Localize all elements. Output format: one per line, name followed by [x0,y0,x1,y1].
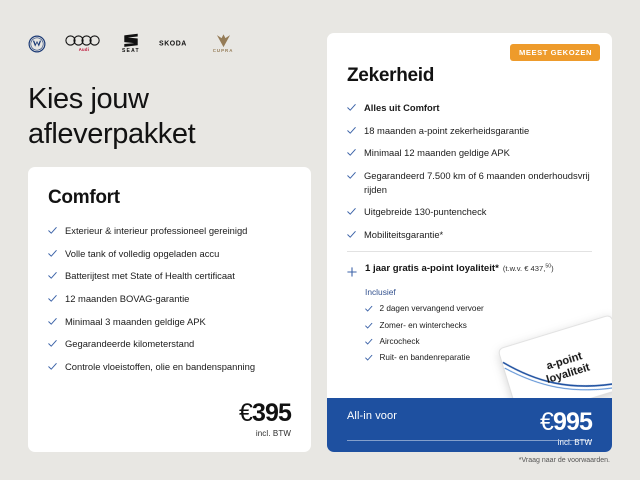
list-item: 2 dagen vervangend vervoer [365,303,592,315]
comfort-price-block: €395 incl. BTW [239,401,291,438]
list-item: Controle vloeistoffen, olie en bandenspa… [48,360,291,374]
currency-symbol: € [540,408,553,436]
cupra-wordmark: CUPRA [213,49,234,53]
page-title-line1: Kies jouw [28,83,149,115]
loyalty-value-prefix: (t.w.v. € 437, [503,264,546,273]
check-icon [48,339,57,348]
list-item-label: Minimaal 3 maanden geldige APK [65,315,291,329]
loyalty-value-suffix: ) [551,264,554,273]
list-item: 12 maanden BOVAG-garantie [48,292,291,306]
vw-icon [28,35,46,53]
seat-logo: SEAT [122,33,140,54]
allin-price: €995 [540,410,592,435]
comfort-price: €395 [239,401,291,426]
list-item: Gegarandeerde kilometerstand [48,337,291,351]
loyalty-title: 1 jaar gratis a-point loyaliteit* [365,263,499,274]
check-icon [347,148,356,157]
status-badge: MEEST GEKOZEN [510,44,600,61]
list-item-label: 2 dagen vervangend vervoer [380,303,484,315]
page-title: Kies jouw afleverpakket [28,82,195,153]
comfort-feature-list: Exterieur & interieur professioneel gere… [48,224,291,373]
list-item-label: Gegarandeerd 7.500 km of 6 maanden onder… [364,169,592,196]
check-icon [48,317,57,326]
list-item: Exterieur & interieur professioneel gere… [48,224,291,238]
check-icon [48,249,57,258]
zekerheid-feature-list: Alles uit Comfort 18 maanden a-point zek… [347,101,592,241]
check-icon [365,322,373,330]
footnote: *Vraag naar de voorwaarden. [519,457,610,464]
list-item-label: Ruit- en bandenreparatie [380,352,471,364]
included-label: Inclusief [365,287,592,297]
delivery-package-page: Audi SEAT SKODA CUPRA Kies jouw afleverp… [0,0,640,480]
volkswagen-logo [28,35,46,53]
list-item-label: Volle tank of volledig opgeladen accu [65,247,291,261]
check-icon [365,338,373,346]
list-item-label: Zomer- en winterchecks [380,320,467,332]
comfort-title: Comfort [48,187,291,209]
zekerheid-title: Zekerheid [347,65,592,87]
seat-s-icon [123,33,139,48]
list-item: Alles uit Comfort [347,101,592,115]
list-item-label: 18 maanden a-point zekerheidsgarantie [364,124,529,138]
allin-price-bar: All-in voor €995 incl. BTW [327,398,612,452]
check-icon [347,207,356,216]
list-item: Uitgebreide 130-puntencheck [347,205,592,219]
list-item: Minimaal 3 maanden geldige APK [48,315,291,329]
list-item-label: Mobiliteitsgarantie* [364,228,443,242]
list-item: 18 maanden a-point zekerheidsgarantie [347,124,592,138]
price-value: 395 [252,399,291,427]
svg-text:SKODA: SKODA [159,41,187,48]
page-title-line2: afleverpakket [28,118,195,150]
loyalty-value: (t.w.v. € 437,50) [503,264,554,273]
list-item: Mobiliteitsgarantie* [347,228,592,242]
list-item-label: 12 maanden BOVAG-garantie [65,292,291,306]
check-icon [365,354,373,362]
package-card-comfort[interactable]: Comfort Exterieur & interieur profession… [28,167,311,452]
list-item: Gegarandeerd 7.500 km of 6 maanden onder… [347,169,592,196]
currency-symbol: € [239,399,252,427]
check-icon [347,126,356,135]
list-item-label: Controle vloeistoffen, olie en bandenspa… [65,360,291,374]
cupra-logo: CUPRA [213,33,234,53]
list-item-label: Uitgebreide 130-puntencheck [364,205,486,219]
check-icon [365,305,373,313]
divider [347,440,592,441]
loyalty-title-row: 1 jaar gratis a-point loyaliteit*(t.w.v.… [365,263,554,276]
audi-logo: Audi [65,34,103,52]
check-icon [48,294,57,303]
plus-icon [347,264,357,274]
audi-wordmark: Audi [79,48,90,52]
list-item-label: Alles uit Comfort [364,101,440,115]
list-item-label: Minimaal 12 maanden geldige APK [364,146,510,160]
check-icon [48,226,57,235]
allin-label: All-in voor [347,410,397,422]
seat-wordmark: SEAT [122,49,140,54]
skoda-logo: SKODA [159,38,194,49]
list-item: Volle tank of volledig opgeladen accu [48,247,291,261]
audi-rings-icon [65,34,103,47]
brand-logo-strip: Audi SEAT SKODA CUPRA [28,33,233,54]
check-icon [48,271,57,280]
check-icon [347,171,356,180]
list-item: Minimaal 12 maanden geldige APK [347,146,592,160]
package-card-zekerheid[interactable]: MEEST GEKOZEN Zekerheid Alles uit Comfor… [327,33,612,452]
check-icon [48,362,57,371]
check-icon [347,230,356,239]
cupra-emblem-icon [215,33,232,48]
skoda-wordmark-icon: SKODA [159,38,194,49]
list-item-label: Gegarandeerde kilometerstand [65,337,291,351]
divider [347,251,592,252]
loyalty-highlight: 1 jaar gratis a-point loyaliteit*(t.w.v.… [347,263,592,276]
list-item-label: Aircocheck [380,336,420,348]
comfort-price-note: incl. BTW [239,429,291,438]
list-item-label: Exterieur & interieur professioneel gere… [65,224,291,238]
check-icon [347,103,356,112]
price-value: 995 [553,408,592,436]
allin-price-block: €995 incl. BTW [540,410,592,447]
list-item: Batterijtest met State of Health certifi… [48,269,291,283]
list-item-label: Batterijtest met State of Health certifi… [65,269,291,283]
